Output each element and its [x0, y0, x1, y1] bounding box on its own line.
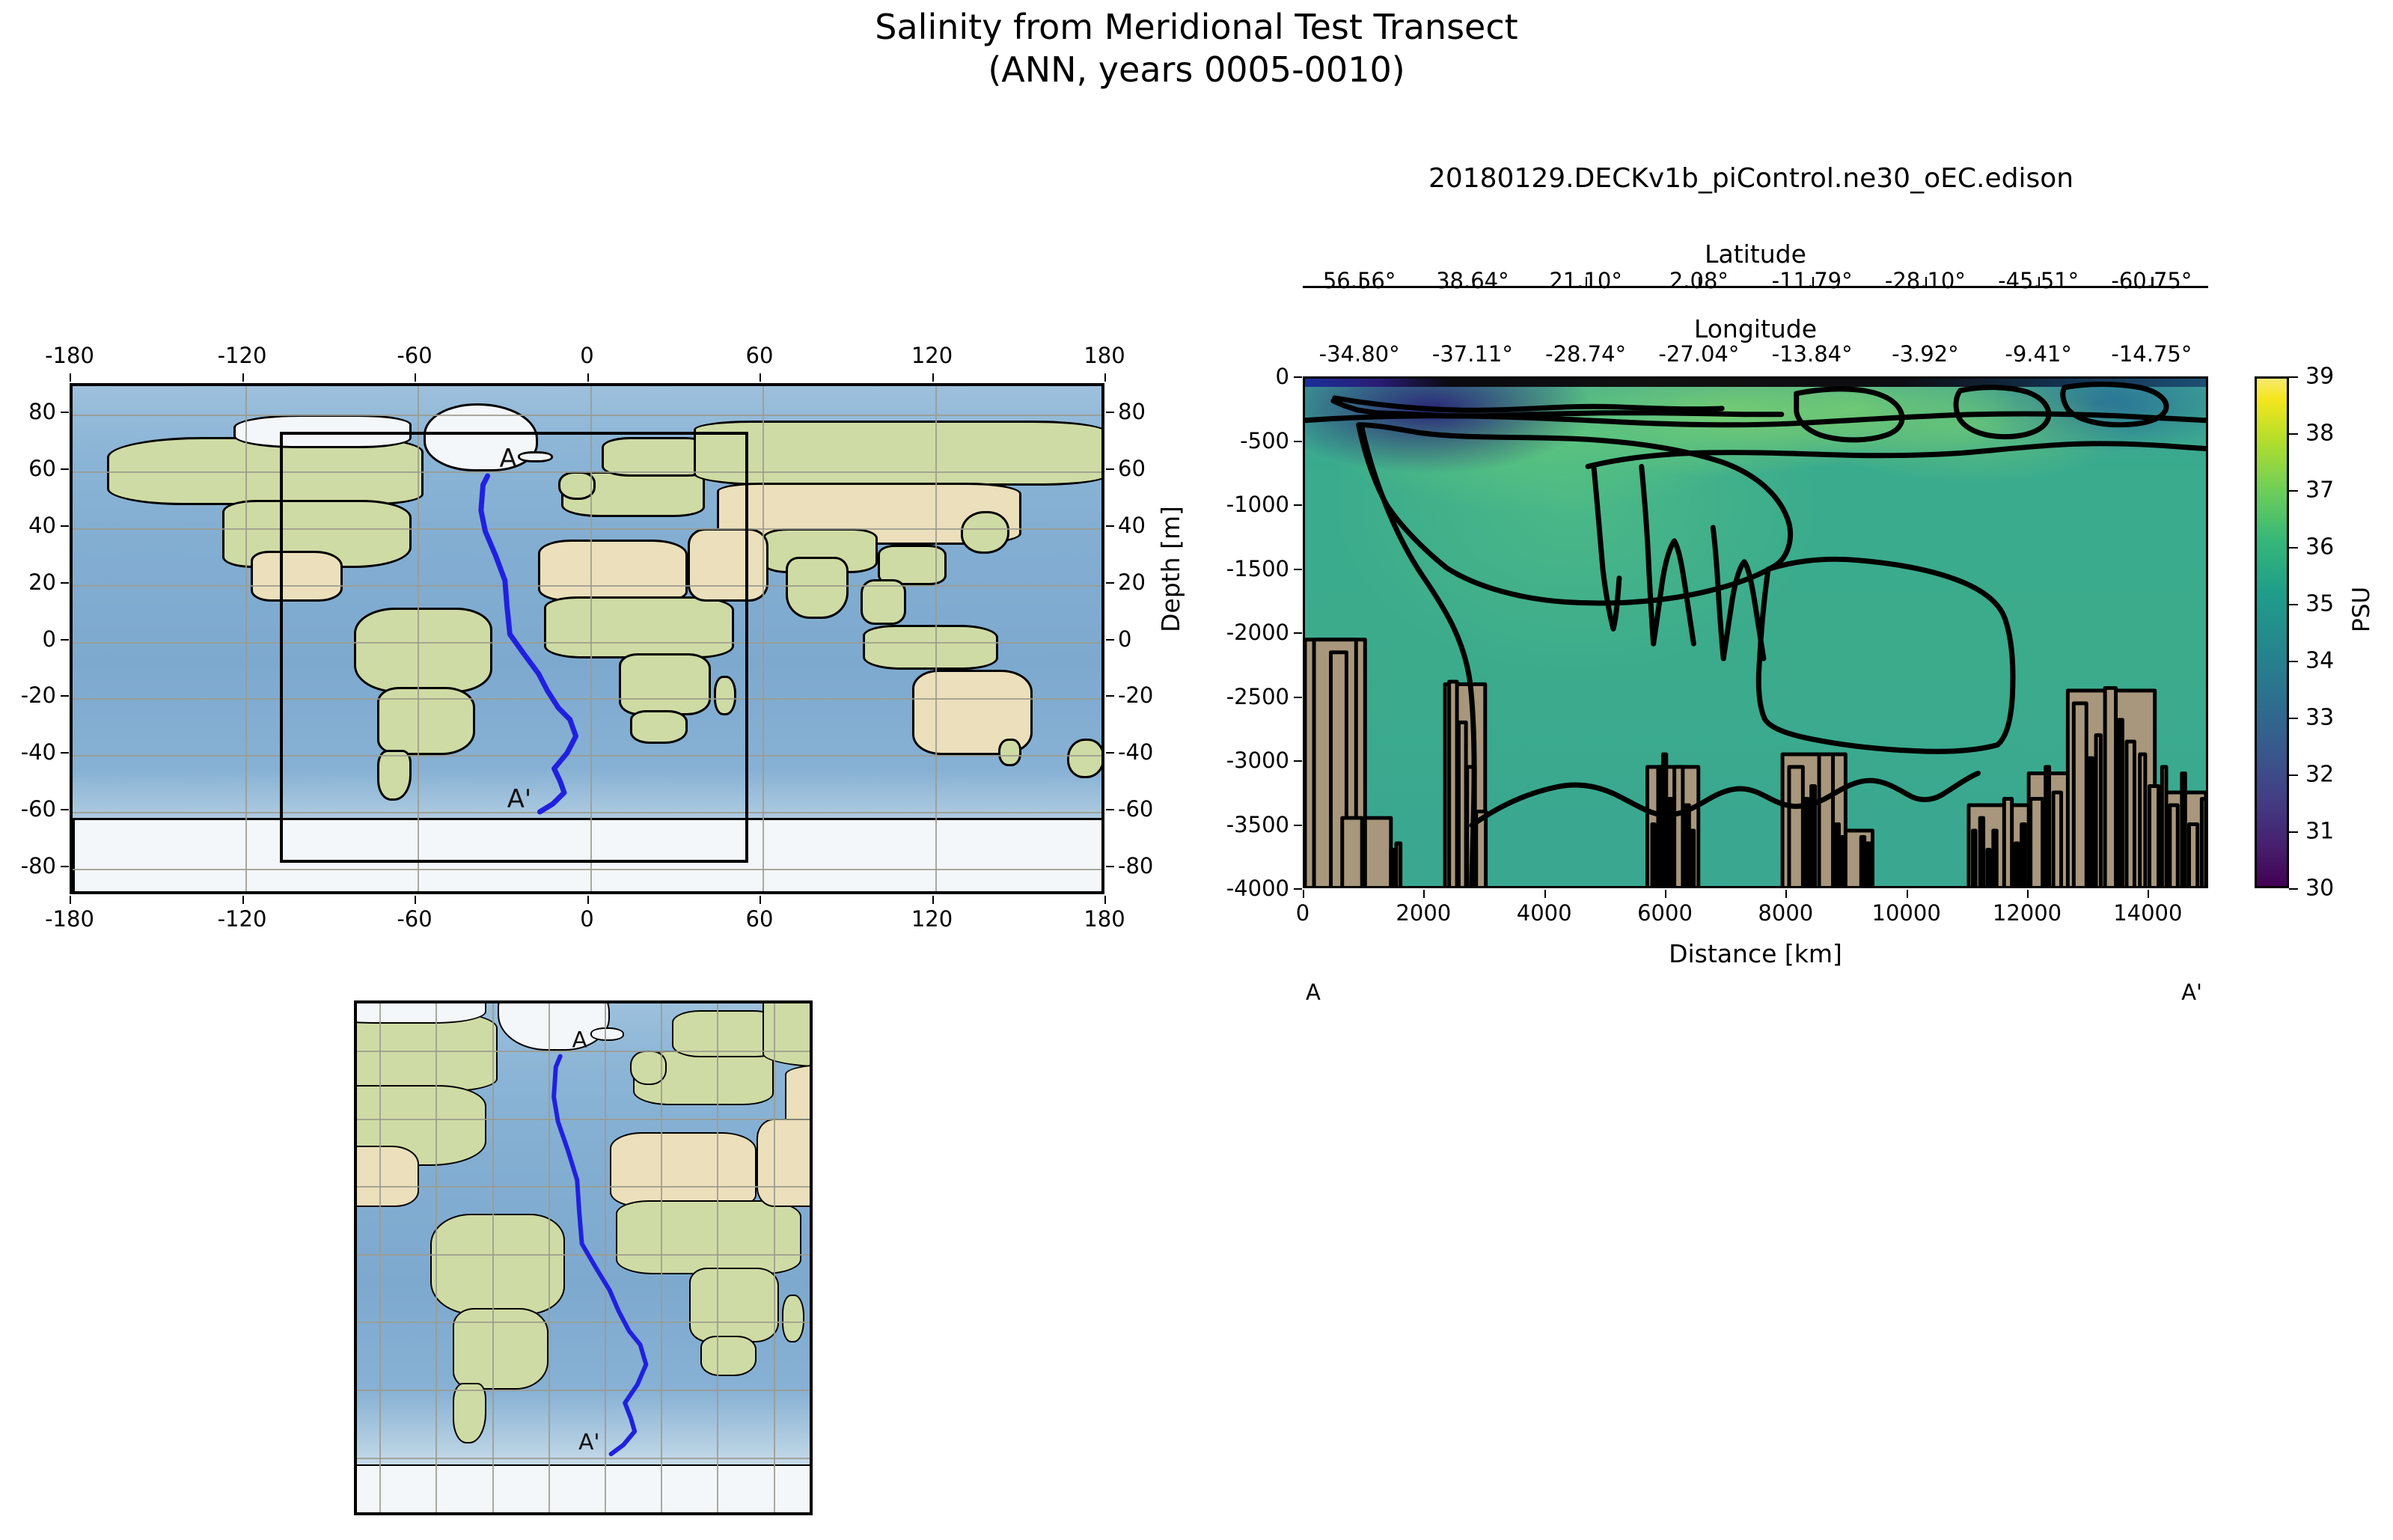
latitude-axis-title: Latitude: [1705, 239, 1806, 269]
bathymetry-seamount-24: [1973, 831, 1976, 888]
longitude-tick-5: -3.92°: [1892, 341, 1959, 367]
regional-atlantic-map[interactable]: AA': [354, 1000, 813, 1515]
bathymetry-seamount-14: [1686, 805, 1689, 888]
bathymetry-seamount-3: [1391, 850, 1395, 888]
worldmap-xtick-bottom-3: 0: [580, 906, 593, 932]
bathymetry-floor: [1305, 640, 2206, 888]
worldmap-xtick-bottom-4: 60: [746, 906, 774, 932]
worldmap-xtick-top-2: -60: [397, 343, 432, 368]
worldmap-ytick-right-3: 20: [1118, 569, 1146, 595]
bathymetry-seamount-42: [2162, 767, 2166, 888]
transect-xtickmark-4: [1785, 890, 1787, 898]
latitude-tick-3: 2.08°: [1669, 268, 1729, 293]
worldmap-ytickmark-left-4: [61, 639, 69, 641]
bathymetry-seamount-22: [1861, 837, 1864, 888]
latitude-tick-0: 56.56°: [1323, 268, 1396, 293]
bathymetry-seamount-17: [1806, 798, 1809, 887]
colorbar-tickmark-2: [2289, 490, 2298, 492]
transect-xtickmark-6: [2027, 890, 2029, 898]
bathymetry-seamount-27: [1993, 831, 1996, 888]
transect-ytick-1: -500: [1240, 428, 1289, 453]
worldmap-ytick-left-5: -20: [21, 682, 56, 708]
transect-xtick-2: 4000: [1517, 900, 1572, 926]
worldmap-xtickmark-top-0: [70, 373, 71, 382]
transect-xtickmark-0: [1303, 890, 1304, 898]
longitude-tick-7: -14.75°: [2111, 341, 2192, 367]
worldmap-ytickmark-left-0: [61, 412, 69, 413]
worldmap-xtickmark-bottom-3: [587, 896, 589, 904]
salinity-contour-7: [1654, 541, 1694, 644]
transect-end-label: A': [578, 1429, 599, 1455]
transect-ytick-8: -4000: [1226, 876, 1289, 901]
transect-ytick-2: -1000: [1226, 492, 1289, 517]
run-name-subtitle: 20180129.DECKv1b_piControl.ne30_oEC.edis…: [1257, 163, 2245, 194]
salinity-contour-4: [1588, 444, 2206, 467]
worldmap-ytick-right-0: 80: [1118, 399, 1146, 424]
worldmap-xtickmark-top-2: [415, 373, 416, 382]
worldmap-frame: AA': [70, 383, 1104, 894]
transect-ytick-5: -2500: [1226, 684, 1289, 709]
colorbar-tick-8: 31: [2305, 819, 2334, 845]
bathymetry-seamount-11: [1663, 754, 1666, 888]
worldmap-xtickmark-bottom-2: [415, 896, 416, 904]
transect-xtick-5: 10000: [1872, 900, 1941, 926]
transect-xtick-1: 2000: [1396, 900, 1451, 926]
worldmap-xtickmark-top-5: [932, 373, 934, 382]
transect-xtick-0: 0: [1296, 900, 1309, 926]
transect-ytickmark-4: [1294, 632, 1302, 634]
latitude-tick-7: -60.75°: [2111, 268, 2192, 293]
bathymetry-seamount-15: [1691, 831, 1694, 888]
worldmap-ytickmark-left-2: [61, 525, 69, 527]
insetmap-frame: AA': [354, 1000, 813, 1515]
worldmap-ytickmark-right-2: [1106, 525, 1114, 527]
worldmap-ytickmark-left-3: [61, 582, 69, 584]
worldmap-xtickmark-top-4: [760, 373, 761, 382]
transect-ytick-4: -2000: [1226, 620, 1289, 645]
salinity-colorbar[interactable]: [2255, 376, 2289, 888]
bathymetry-seamount-23: [1867, 843, 1870, 888]
colorbar-tick-2: 37: [2305, 477, 2334, 504]
worldmap-xtick-top-4: 60: [746, 343, 774, 368]
bathymetry-seamount-43: [2170, 805, 2177, 888]
transect-contours-and-bathymetry: [1305, 379, 2206, 888]
longitude-axis-title: Longitude: [1694, 314, 1817, 343]
worldmap-xtick-bottom-2: -60: [397, 906, 432, 932]
worldmap-ytickmark-right-3: [1106, 582, 1114, 584]
worldmap-ytick-right-2: 40: [1118, 513, 1146, 538]
latitude-tick-6: -45.51°: [1998, 268, 2079, 293]
transect-ytickmark-3: [1294, 569, 1302, 570]
worldmap-ytick-right-8: -80: [1118, 853, 1153, 879]
worldmap-xtickmark-top-3: [587, 373, 589, 382]
transect-xtickmark-7: [2148, 890, 2149, 898]
bathymetry-seamount-29: [2016, 843, 2019, 888]
transect-ytick-7: -3500: [1226, 812, 1289, 837]
colorbar-tick-5: 34: [2305, 648, 2334, 674]
transect-ytick-0: 0: [1276, 364, 1289, 389]
worldmap-ytickmark-right-0: [1106, 412, 1114, 413]
longitude-tick-4: -13.84°: [1772, 341, 1853, 367]
transect-xlabel: Distance [km]: [1669, 939, 1842, 968]
worldmap-xtickmark-top-6: [1104, 373, 1106, 382]
salinity-contour-11: [1472, 773, 1978, 825]
colorbar-tick-3: 36: [2305, 534, 2334, 560]
transect-ytick-6: -3000: [1226, 748, 1289, 773]
worldmap-ytickmark-left-8: [61, 866, 69, 867]
worldmap-ytickmark-left-5: [61, 695, 69, 697]
worldmap-ytickmark-right-4: [1106, 639, 1114, 641]
worldmap-ytickmark-right-7: [1106, 809, 1114, 810]
bathymetry-seamount-13: [1675, 767, 1683, 888]
transect-ytickmark-5: [1294, 697, 1302, 698]
transect-ytickmark-6: [1294, 760, 1302, 762]
bathymetry-seamount-36: [2096, 735, 2100, 887]
transect-ytickmark-8: [1294, 888, 1302, 890]
longitude-tick-6: -9.41°: [2005, 341, 2072, 367]
transect-ytickmark-0: [1294, 376, 1302, 378]
colorbar-tickmark-8: [2289, 831, 2298, 833]
bathymetry-seamount-33: [2053, 792, 2061, 888]
worldmap-ytickmark-left-7: [61, 809, 69, 810]
transect-xtickmark-3: [1665, 890, 1666, 898]
bathymetry-seamount-2: [1342, 818, 1362, 888]
colorbar-tickmark-6: [2289, 718, 2298, 719]
transect-ytickmark-1: [1294, 441, 1302, 442]
salinity-contour-1: [1335, 398, 1722, 410]
bathymetry-seamount-20: [1836, 825, 1839, 888]
salinity-contour-6: [1642, 466, 1654, 644]
worldmap-ytickmark-right-5: [1106, 695, 1114, 697]
colorbar-tick-1: 38: [2305, 421, 2334, 447]
worldmap-xtick-bottom-5: 120: [911, 906, 953, 932]
transect-start-label: A: [572, 1027, 587, 1053]
bathymetry-seamount-40: [2140, 754, 2145, 888]
colorbar-tickmark-1: [2289, 433, 2298, 435]
worldmap-ytickmark-right-8: [1106, 866, 1114, 867]
figure-title-line1: Salinity from Meridional Test Transect: [875, 7, 1518, 47]
worldmap-ytick-right-5: -20: [1118, 682, 1153, 708]
bathymetry-seamount-35: [2089, 758, 2092, 888]
bathymetry-seamount-31: [2031, 798, 2043, 887]
worldmap-ytickmark-left-6: [61, 752, 69, 754]
worldmap-ytick-left-0: 80: [28, 399, 56, 424]
colorbar-tickmark-4: [2289, 604, 2298, 605]
worldmap-ytick-left-3: 20: [28, 569, 56, 595]
worldmap-ytick-right-1: 60: [1118, 456, 1146, 481]
worldmap-ytickmark-left-1: [61, 468, 69, 470]
transect-xtickmark-2: [1544, 890, 1546, 898]
worldmap-ytick-left-6: -40: [21, 739, 56, 765]
worldmap-ytick-left-1: 60: [28, 456, 56, 481]
worldmap-xtickmark-bottom-6: [1104, 896, 1106, 904]
worldmap-xtickmark-bottom-1: [242, 896, 244, 904]
colorbar-tickmark-0: [2289, 376, 2298, 378]
worldmap-xtickmark-bottom-5: [932, 896, 934, 904]
latitude-tick-4: -11.79°: [1772, 268, 1853, 293]
worldmap-ytick-left-8: -80: [21, 853, 56, 879]
worldmap-transect-overlay: AA': [73, 386, 1101, 894]
colorbar-tick-0: 39: [2305, 364, 2334, 390]
worldmap-xtickmark-top-1: [242, 373, 244, 382]
transect-endpoint-Aprime: A': [2181, 980, 2202, 1005]
bathymetry-seamount-9: [1652, 825, 1654, 888]
bathymetry-seamount-12: [1669, 798, 1671, 887]
bathymetry-seamount-10: [1658, 767, 1661, 888]
colorbar-tickmark-5: [2289, 661, 2298, 662]
longitude-tick-3: -27.04°: [1658, 341, 1739, 367]
insetmap-transect-overlay: AA': [357, 1003, 810, 1512]
bathymetry-seamount-21: [1842, 837, 1845, 888]
worldmap-xtick-top-1: -120: [218, 343, 267, 368]
bathymetry-seamount-37: [2105, 688, 2115, 887]
transect-xtickmark-1: [1423, 890, 1425, 898]
transect-endpoint-A: A: [1306, 980, 1321, 1005]
longitude-tick-2: -28.74°: [1545, 341, 1626, 367]
worldmap-ytick-right-7: -60: [1118, 796, 1153, 822]
transect-start-label: A: [499, 444, 516, 473]
salinity-contour-12: [1797, 389, 1902, 440]
worldmap-xtick-bottom-1: -120: [218, 906, 267, 932]
transect-xtick-3: 6000: [1637, 900, 1693, 926]
colorbar-tick-9: 30: [2305, 876, 2334, 902]
colorbar-tick-4: 35: [2305, 591, 2334, 617]
transect-ylabel: Depth [m]: [1156, 506, 1185, 632]
colorbar-gradient: [2255, 376, 2289, 888]
bathymetry-seamount-30: [2022, 825, 2026, 888]
bathymetry-seamount-5: [1449, 682, 1457, 888]
transect-end-label: A': [507, 784, 531, 813]
bathymetry-seamount-19: [1819, 754, 1833, 888]
bathymetry-seamount-6: [1458, 722, 1466, 887]
bathymetry-seamount-44: [2182, 773, 2185, 887]
bathymetry-seamount-4: [1396, 843, 1401, 888]
worldmap-ytickmark-right-6: [1106, 752, 1114, 754]
bathymetry-seamount-39: [2127, 742, 2134, 888]
worldmap-ytick-right-4: 0: [1118, 626, 1131, 652]
transect-ytickmark-2: [1294, 504, 1302, 506]
bathymetry-seamount-32: [2046, 767, 2050, 888]
worldmap-xtick-top-6: 180: [1084, 343, 1125, 368]
bathymetry-seamount-26: [1987, 850, 1990, 888]
worldmap-ytick-right-6: -40: [1118, 739, 1153, 765]
bathymetry-seamount-46: [2201, 798, 2206, 887]
colorbar-tickmark-3: [2289, 547, 2298, 549]
figure-title-line2: (ANN, years 0005-0010): [0, 49, 2393, 91]
transect-xtick-6: 12000: [1993, 900, 2062, 926]
bathymetry-seamount-16: [1789, 767, 1803, 888]
worldmap-ytick-left-7: -60: [21, 796, 56, 822]
worldmap-ytickmark-right-1: [1106, 468, 1114, 470]
bathymetry-seamount-45: [2189, 825, 2197, 888]
colorbar-tickmark-7: [2289, 774, 2298, 776]
transect-xtickmark-5: [1907, 890, 1908, 898]
salinity-contour-8: [1713, 528, 1723, 659]
latitude-tick-5: -28.10°: [1885, 268, 1966, 293]
latitude-tick-1: 38.64°: [1436, 268, 1509, 293]
worldmap-xtickmark-bottom-0: [70, 896, 71, 904]
transect-frame: [1303, 376, 2208, 888]
colorbar-label: PSU: [2348, 587, 2375, 632]
transect-xtick-4: 8000: [1758, 900, 1813, 926]
worldmap-xtick-bottom-6: 180: [1084, 906, 1125, 932]
bathymetry-seamount-28: [2004, 798, 2011, 887]
worldmap-xtick-top-5: 120: [911, 343, 953, 368]
salinity-depth-transect[interactable]: [1303, 376, 2208, 888]
salinity-contour-10: [1758, 559, 2013, 751]
bathymetry-seamount-25: [1980, 818, 1983, 888]
transect-ytick-3: -1500: [1226, 556, 1289, 581]
worldmap-ytick-left-2: 40: [28, 513, 56, 538]
figure-title: Salinity from Meridional Test Transect (…: [0, 6, 2393, 91]
bathymetry-seamount-38: [2119, 720, 2123, 888]
bathymetry-seamount-41: [2150, 786, 2159, 887]
transect-xtick-7: 14000: [2113, 900, 2182, 926]
latitude-tick-2: 21.10°: [1549, 268, 1622, 293]
colorbar-tick-6: 33: [2305, 705, 2334, 731]
worldmap-ytick-left-4: 0: [43, 626, 56, 652]
bathymetry-seamount-34: [2073, 703, 2086, 888]
colorbar-tick-7: 32: [2305, 762, 2334, 788]
worldmap-xtick-bottom-0: -180: [45, 906, 94, 932]
longitude-tick-1: -37.11°: [1432, 341, 1513, 367]
longitude-tick-0: -34.80°: [1319, 341, 1400, 367]
transect-ytickmark-7: [1294, 825, 1302, 826]
colorbar-tickmark-9: [2289, 888, 2298, 890]
worldmap-xtick-top-0: -180: [45, 343, 94, 368]
worldmap-xtick-top-3: 0: [580, 343, 593, 368]
global-reference-map[interactable]: AA': [70, 383, 1104, 894]
worldmap-xtickmark-bottom-4: [760, 896, 761, 904]
